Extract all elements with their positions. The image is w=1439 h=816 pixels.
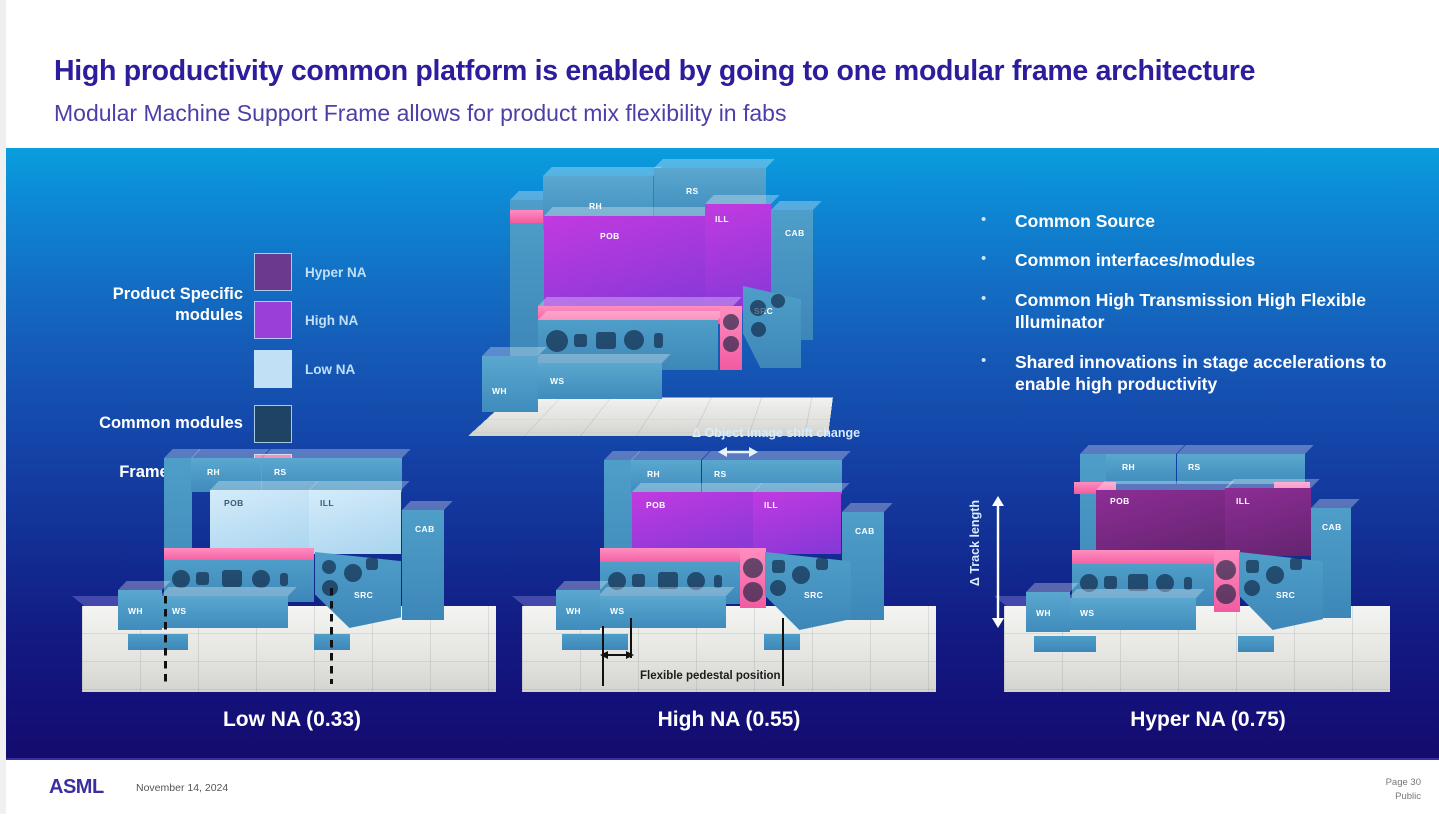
frame-port <box>792 566 810 584</box>
frame-port <box>654 333 663 348</box>
legend-swatch-hyper-na <box>254 253 292 291</box>
legend-item-hyper-na: Hyper NA <box>254 253 367 291</box>
module-block-wh <box>482 356 538 412</box>
classification-label: Public <box>1386 790 1421 804</box>
frame-adaptor-band <box>510 210 544 223</box>
frame-port <box>723 314 739 330</box>
frame-port <box>344 564 362 582</box>
legend-label-common-modules: Common modules <box>58 414 243 433</box>
page-number: Page 30 <box>1386 776 1421 790</box>
frame-port <box>546 330 568 352</box>
annotation-track-length: Δ Track length <box>968 500 982 586</box>
frame-port <box>816 558 828 570</box>
legend-group-product-specific-label: Product Specific modules <box>58 284 243 325</box>
frame-port <box>1216 584 1236 604</box>
legend-swatch-high-na <box>254 301 292 339</box>
frame-port <box>771 294 785 308</box>
module-block-ws <box>532 363 662 399</box>
module-block-ill <box>309 490 401 554</box>
frame-port <box>743 558 763 578</box>
footer-page-info: Page 30 Public <box>1386 776 1421 804</box>
slide-body: Product Specific modules Hyper NA High N… <box>6 148 1439 758</box>
frame-port <box>1104 576 1117 589</box>
module-block-rh <box>1106 454 1176 484</box>
module-block-cab <box>402 510 444 620</box>
caption-high-na: High NA (0.55) <box>559 708 899 732</box>
pedestal <box>1238 636 1274 652</box>
frame-port <box>1266 566 1284 584</box>
frame-port <box>1216 560 1236 580</box>
frame-port <box>751 322 766 337</box>
module-block-wh <box>556 590 600 630</box>
frame-port <box>624 330 644 350</box>
machine-low-na: RH RS POB ILL CAB SRC <box>72 448 504 698</box>
module-block-wh <box>118 590 162 630</box>
module-block-ill <box>753 492 841 554</box>
legend-swatch-low-na <box>254 350 292 388</box>
frame-port <box>1290 558 1302 570</box>
track-length-arrow-icon <box>990 496 1006 628</box>
module-block-ws <box>160 596 288 628</box>
module-block-ws <box>598 596 726 628</box>
frame-port <box>723 336 739 352</box>
caption-low-na: Low NA (0.33) <box>122 708 462 732</box>
module-block-pob <box>1096 490 1226 556</box>
legend-item-high-na: High NA <box>254 301 358 339</box>
list-item: • Shared innovations in stage accelerati… <box>981 351 1401 396</box>
frame-port <box>366 558 378 570</box>
frame-port <box>574 334 587 347</box>
bullet-text: Common interfaces/modules <box>1015 249 1255 271</box>
bullet-marker: • <box>981 210 1015 232</box>
machine-common-platform: RH RS POB ILL CAB <box>458 158 848 448</box>
legend-label-low-na: Low NA <box>305 362 355 377</box>
list-item: • Common interfaces/modules <box>981 249 1401 271</box>
flexible-pedestal-arrow-icon <box>600 648 634 662</box>
pedestal <box>128 634 188 650</box>
frame-port <box>172 570 190 588</box>
slide-header: High productivity common platform is ena… <box>0 0 1439 148</box>
pedestal-center-line <box>330 588 333 684</box>
legend-label-hyper-na: Hyper NA <box>305 265 367 280</box>
module-block-pob <box>632 492 754 554</box>
frame-port <box>1244 580 1260 596</box>
frame-port <box>280 573 288 586</box>
list-item: • Common Source <box>981 210 1401 232</box>
page-subtitle: Modular Machine Support Frame allows for… <box>54 100 786 127</box>
pedestal <box>1034 636 1096 652</box>
module-block-ill <box>1225 488 1311 556</box>
frame-port <box>196 572 209 585</box>
bullet-marker: • <box>981 249 1015 271</box>
frame-port <box>770 580 786 596</box>
asml-logo: ASML <box>49 776 104 799</box>
bullet-text: Common Source <box>1015 210 1155 232</box>
slide-footer: ASML November 14, 2024 Page 30 Public <box>6 758 1439 816</box>
legend-label-high-na: High NA <box>305 313 358 328</box>
frame-port <box>743 582 763 602</box>
frame-port <box>596 332 616 349</box>
legend-item-low-na: Low NA <box>254 350 355 388</box>
page-title: High productivity common platform is ena… <box>54 55 1255 88</box>
module-block-pob <box>210 490 310 554</box>
bullet-text: Shared innovations in stage acceleration… <box>1015 351 1401 396</box>
machine-hyper-na: Δ Track length RH RS POB ILL CAB <box>956 448 1396 698</box>
frame-port <box>1246 560 1259 573</box>
pedestal-measure-line <box>782 618 784 686</box>
machine-high-na: RH RS POB ILL CAB SRC <box>512 448 944 698</box>
bullet-marker: • <box>981 351 1015 396</box>
frame-port <box>252 570 270 588</box>
caption-hyper-na: Hyper NA (0.75) <box>1038 708 1378 732</box>
frame-port <box>772 560 785 573</box>
bullet-text: Common High Transmission High Flexible I… <box>1015 289 1401 334</box>
module-block-wh <box>1026 592 1070 632</box>
slide: High productivity common platform is ena… <box>0 0 1439 814</box>
footer-date: November 14, 2024 <box>136 782 228 794</box>
legend-item-common-modules <box>254 405 292 443</box>
list-item: • Common High Transmission High Flexible… <box>981 289 1401 334</box>
frame-port <box>222 570 242 587</box>
bullet-marker: • <box>981 289 1015 334</box>
module-block-ws <box>1068 598 1196 630</box>
annotation-object-image-shift: Δ Object image shift change <box>692 426 860 440</box>
frame-port <box>750 300 766 316</box>
legend-swatch-common-modules <box>254 405 292 443</box>
annotation-flexible-pedestal: Flexible pedestal position <box>640 670 781 682</box>
pedestal-center-line <box>164 596 167 684</box>
frame-port <box>632 574 645 587</box>
frame-port <box>322 560 336 574</box>
benefits-list: • Common Source • Common interfaces/modu… <box>981 210 1401 412</box>
